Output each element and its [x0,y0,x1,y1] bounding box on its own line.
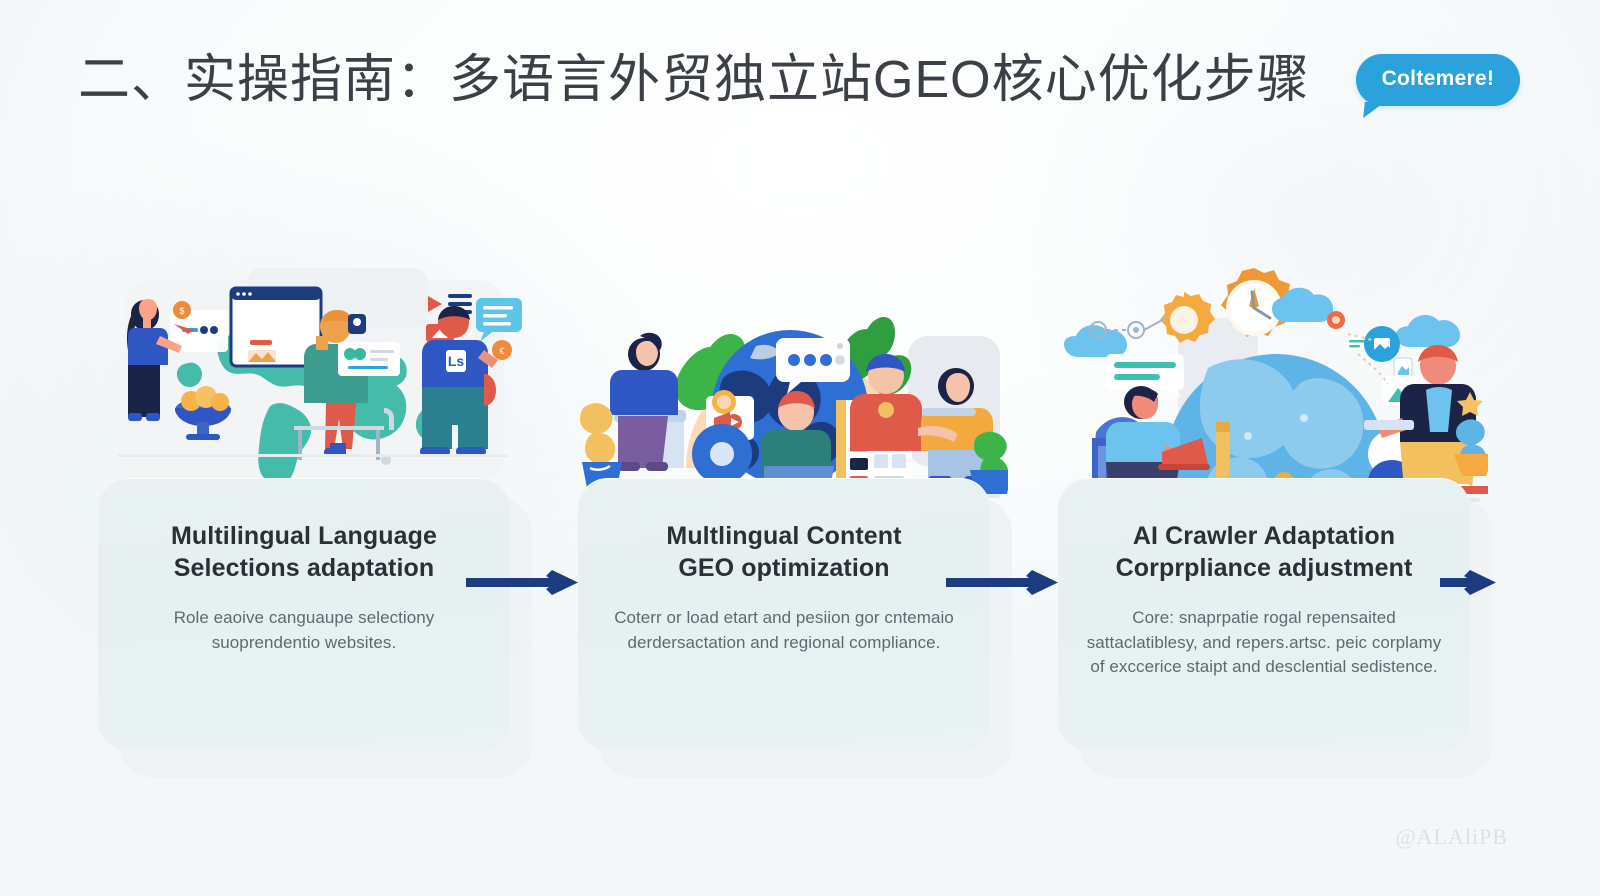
step-3-title-line-2: Corprpliance adjustment [1084,552,1444,584]
svg-text:€: € [499,346,504,356]
step-3-body: Core: snaprpatie rogal repensaited satta… [1084,606,1444,680]
svg-text:Ls: Ls [448,353,465,369]
step-3-title: AI Crawler Adaptation Corprpliance adjus… [1084,520,1444,584]
status-badge: Coltemere! [1356,54,1521,106]
arrow-step1-to-step2 [466,568,584,598]
step-2-title-line-1: Multlingual Content [604,520,964,552]
step-1-body: Role eaoive canguaupe selectiony suopren… [124,606,484,655]
step-1-title-line-2: Selections adaptation [124,552,484,584]
team-world-map-browser-illustration: $ [98,258,528,508]
slide-canvas: 二、实操指南：多语言外贸独立站GEO核心优化步骤 Coltemere! [0,0,1600,896]
header: 二、实操指南：多语言外贸独立站GEO核心优化步骤 Coltemere! [78,34,1540,126]
step-2-title-line-2: GEO optimization [604,552,964,584]
step-1-card[interactable]: Multilingual Language Selections adaptat… [98,478,510,750]
step-card-1[interactable]: $ [98,210,528,790]
step-1-title: Multilingual Language Selections adaptat… [124,520,484,584]
watermark: @ALAliPB [1395,824,1508,850]
step-2-card[interactable]: Multlingual Content GEO optimization Cot… [578,478,990,750]
page-title: 二、实操指南：多语言外贸独立站GEO核心优化步骤 [78,51,1310,109]
step-3-card[interactable]: AI Crawler Adaptation Corprpliance adjus… [1058,478,1470,750]
step-1-title-line-1: Multilingual Language [124,520,484,552]
arrow-step3-continues [1440,568,1560,598]
step-card-2[interactable]: Multlingual Content GEO optimization Cot… [578,210,1008,790]
globe-gears-clock-laptops-illustration: $ [1058,258,1488,508]
step-3-title-line-1: AI Crawler Adaptation [1084,520,1444,552]
svg-text:$: $ [179,306,184,316]
step-2-title: Multlingual Content GEO optimization [604,520,964,584]
steps-row: $ [0,210,1600,810]
step-card-3[interactable]: $ [1058,210,1488,790]
arrow-step2-to-step3 [946,568,1064,598]
step-2-body: Coterr or load etart and pesiion gor cnt… [604,606,964,655]
globe-plants-teamwork-illustration [578,258,1008,508]
